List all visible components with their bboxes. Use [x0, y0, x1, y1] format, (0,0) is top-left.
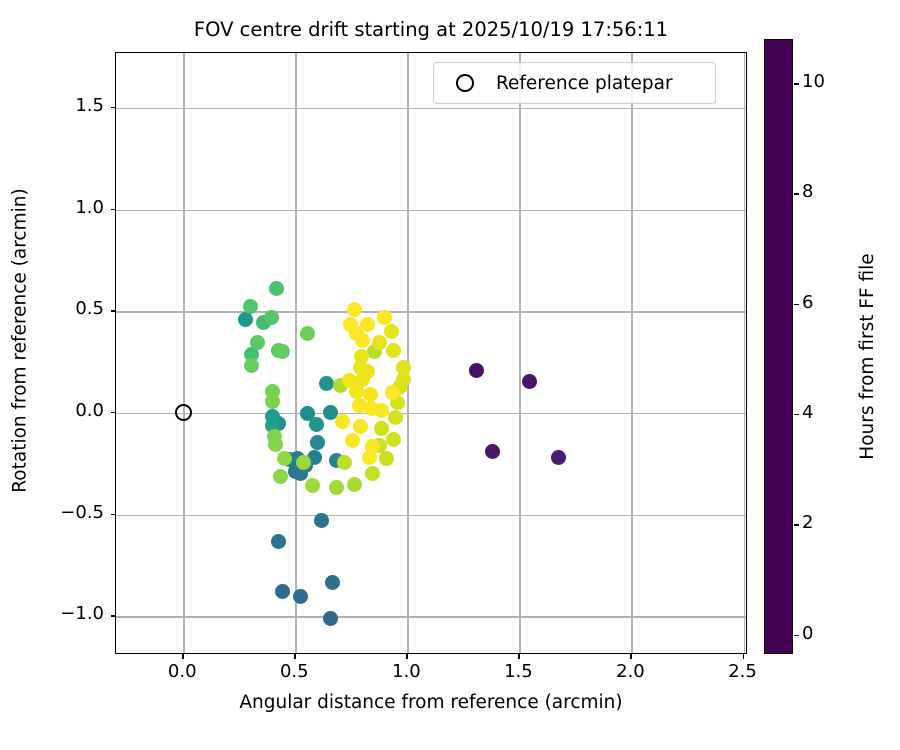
colorbar-tick-mark-2 — [794, 414, 799, 415]
colorbar-tick-mark-5 — [794, 83, 799, 84]
scatter-point — [337, 455, 352, 470]
legend-marker-cell — [434, 74, 496, 92]
scatter-point — [329, 480, 344, 495]
y-tick-mark-0 — [111, 107, 116, 108]
legend-entry-label: Reference platepar — [496, 73, 673, 94]
colorbar-tick-label-2: 4 — [802, 402, 813, 423]
x-tick-label-1: 0.5 — [264, 661, 324, 682]
scatter-point — [314, 513, 329, 528]
scatter-point — [250, 335, 265, 350]
scatter-point — [386, 343, 401, 358]
page-title: FOV centre drift starting at 2025/10/19 … — [115, 18, 747, 41]
scatter-point — [347, 302, 362, 317]
scatter-point — [325, 575, 340, 590]
scatter-point — [275, 344, 290, 359]
scatter-point — [396, 360, 411, 375]
x-tick-label-4: 2.0 — [600, 661, 660, 682]
scatter-point — [388, 410, 403, 425]
scatter-point — [273, 469, 288, 484]
scatter-point — [469, 363, 484, 378]
scatter-point — [384, 324, 399, 339]
gridline-vertical-2 — [407, 53, 408, 653]
scatter-point — [374, 421, 389, 436]
y-tick-label-2: 0.5 — [38, 298, 104, 319]
y-tick-mark-3 — [111, 412, 116, 413]
y-tick-label-5: −1.0 — [38, 603, 104, 624]
y-tick-label-1: 1.0 — [38, 197, 104, 218]
scatter-point — [271, 534, 286, 549]
gridline-horizontal-4 — [116, 515, 746, 516]
y-tick-label-0: 1.5 — [38, 95, 104, 116]
colorbar-tick-label-3: 6 — [802, 292, 813, 313]
scatter-point — [269, 281, 284, 296]
x-tick-mark-0 — [182, 654, 183, 659]
y-tick-mark-2 — [111, 310, 116, 311]
scatter-point — [275, 584, 290, 599]
x-tick-mark-4 — [630, 654, 631, 659]
scatter-point — [551, 450, 566, 465]
gridline-vertical-5 — [744, 53, 745, 653]
open-circle-icon — [456, 74, 474, 92]
gridline-vertical-1 — [295, 53, 296, 653]
figure-canvas: FOV centre drift starting at 2025/10/19 … — [0, 0, 900, 750]
scatter-point — [374, 403, 389, 418]
scatter-point — [310, 435, 325, 450]
scatter-point — [323, 611, 338, 626]
x-axis-label: Angular distance from reference (arcmin) — [115, 692, 747, 713]
scatter-point — [268, 437, 283, 452]
scatter-point — [264, 310, 279, 325]
colorbar-tick-mark-4 — [794, 193, 799, 194]
legend: Reference platepar — [433, 62, 716, 104]
scatter-point — [309, 417, 324, 432]
scatter-point — [319, 376, 334, 391]
y-tick-label-3: 0.0 — [38, 400, 104, 421]
gridline-horizontal-0 — [116, 108, 746, 109]
x-tick-label-3: 1.5 — [488, 661, 548, 682]
scatter-point — [362, 450, 377, 465]
x-tick-label-0: 0.0 — [152, 661, 212, 682]
colorbar-tick-mark-3 — [794, 304, 799, 305]
colorbar-tick-mark-1 — [794, 524, 799, 525]
colorbar-tick-label-0: 0 — [802, 623, 813, 644]
gridline-horizontal-5 — [116, 616, 746, 617]
x-tick-label-5: 2.5 — [713, 661, 773, 682]
y-tick-mark-5 — [111, 615, 116, 616]
y-tick-mark-4 — [111, 514, 116, 515]
x-tick-mark-2 — [406, 654, 407, 659]
scatter-point — [386, 432, 401, 447]
colorbar-tick-label-1: 2 — [802, 512, 813, 533]
scatter-point — [365, 466, 380, 481]
scatter-point — [238, 312, 253, 327]
colorbar-tick-label-4: 8 — [802, 181, 813, 202]
scatter-point — [522, 374, 537, 389]
scatter-point — [244, 358, 259, 373]
scatter-point — [485, 444, 500, 459]
scatter-point — [372, 335, 387, 350]
scatter-point — [377, 310, 392, 325]
gridline-horizontal-2 — [116, 311, 746, 312]
scatter-point — [300, 326, 315, 341]
scatter-point — [293, 589, 308, 604]
y-tick-label-4: −0.5 — [38, 502, 104, 523]
scatter-point — [353, 419, 368, 434]
colorbar-label: Hours from first FF file — [857, 49, 878, 664]
x-tick-mark-3 — [518, 654, 519, 659]
scatter-point — [243, 299, 258, 314]
gridline-horizontal-1 — [116, 210, 746, 211]
scatter-point — [265, 394, 280, 409]
colorbar-tick-label-5: 10 — [802, 71, 825, 92]
x-tick-label-2: 1.0 — [376, 661, 436, 682]
y-axis-label: Rotation from reference (arcmin) — [10, 40, 31, 642]
x-tick-mark-1 — [294, 654, 295, 659]
x-tick-mark-5 — [743, 654, 744, 659]
scatter-point — [345, 433, 360, 448]
plot-area — [115, 52, 747, 654]
reference-platepar-marker — [175, 404, 192, 421]
scatter-point — [379, 451, 394, 466]
colorbar — [764, 39, 793, 654]
gridline-vertical-4 — [631, 53, 632, 653]
scatter-point — [349, 384, 364, 399]
scatter-point — [296, 455, 311, 470]
gridline-horizontal-3 — [116, 413, 746, 414]
gridline-vertical-3 — [519, 53, 520, 653]
y-tick-mark-1 — [111, 209, 116, 210]
scatter-point — [335, 414, 350, 429]
scatter-point — [277, 451, 292, 466]
colorbar-gradient — [765, 40, 792, 653]
colorbar-tick-mark-0 — [794, 635, 799, 636]
gridline-vertical-0 — [183, 53, 184, 653]
scatter-point — [347, 477, 362, 492]
scatter-point — [305, 478, 320, 493]
